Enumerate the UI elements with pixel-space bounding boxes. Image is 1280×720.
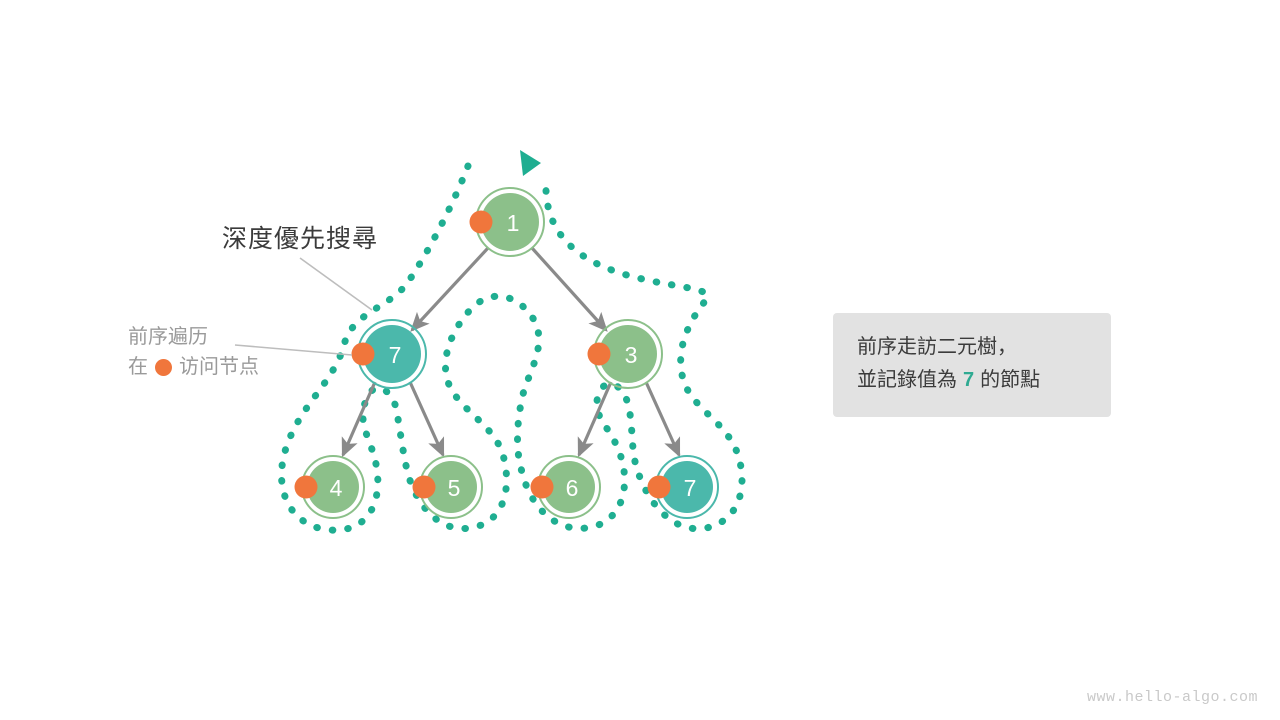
legend-visit-suffix: 访问节点 xyxy=(179,352,259,382)
info-box-line2-suffix: 的節點 xyxy=(980,369,1040,391)
orange-dot-icon xyxy=(155,359,172,376)
legend: 前序遍历 在 访问节点 xyxy=(128,322,259,382)
node-value-label: 1 xyxy=(507,210,520,236)
node-value-label: 5 xyxy=(448,475,461,501)
page-title: 深度優先搜尋 xyxy=(222,219,378,255)
visit-marker-dot-icon xyxy=(295,476,318,499)
dfs-tree-diagram: 1734567 深度優先搜尋 前序遍历 在 访问节点 前序走訪二元樹， 並記錄值… xyxy=(0,0,1280,720)
tree-node[interactable]: 4 xyxy=(295,456,365,518)
tree-node[interactable]: 7 xyxy=(648,456,719,518)
visit-marker-dot-icon xyxy=(352,343,375,366)
legend-visit-prefix: 在 xyxy=(128,352,148,382)
info-box-line-2: 並記錄值為7的節點 xyxy=(857,364,1087,397)
info-box-line-1: 前序走訪二元樹， xyxy=(857,331,1087,364)
tree-node[interactable]: 1 xyxy=(470,188,545,256)
dfs-path-arrowhead xyxy=(520,150,541,176)
visit-marker-dot-icon xyxy=(413,476,436,499)
edge-7-4 xyxy=(343,382,375,455)
leader-line-title xyxy=(300,258,372,310)
edge-3-6 xyxy=(579,382,611,455)
node-value-label: 6 xyxy=(566,475,579,501)
edge-3-7b xyxy=(646,382,679,455)
tree-node[interactable]: 3 xyxy=(588,320,663,388)
info-box-line2-prefix: 並記錄值為 xyxy=(857,369,957,391)
node-value-label: 7 xyxy=(684,475,697,501)
edge-7-5 xyxy=(410,382,443,455)
visit-marker-dot-icon xyxy=(531,476,554,499)
node-value-label: 7 xyxy=(389,342,402,368)
node-value-label: 4 xyxy=(330,475,343,501)
tree-node[interactable]: 6 xyxy=(531,456,601,518)
edge-1-7 xyxy=(412,248,488,330)
legend-line-traversal: 前序遍历 xyxy=(128,322,259,352)
visit-marker-dot-icon xyxy=(470,211,493,234)
visit-marker-dot-icon xyxy=(588,343,611,366)
tree-node[interactable]: 7 xyxy=(352,320,427,388)
watermark: www.hello-algo.com xyxy=(1087,689,1258,706)
visit-marker-dot-icon xyxy=(648,476,671,499)
info-box: 前序走訪二元樹， 並記錄值為7的節點 xyxy=(833,313,1111,417)
node-value-label: 3 xyxy=(625,342,638,368)
info-box-accent-value: 7 xyxy=(957,369,980,391)
legend-line-visit: 在 访问节点 xyxy=(128,352,259,382)
legend-traversal-label: 前序遍历 xyxy=(128,322,208,352)
